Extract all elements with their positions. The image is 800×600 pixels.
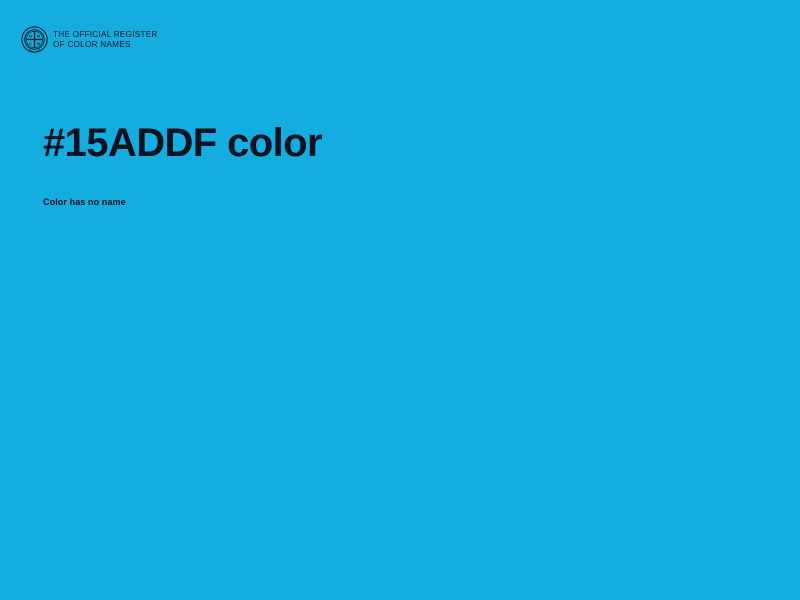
color-page: O R C N THE OFFICIAL REGISTER OF COLOR N… — [0, 0, 800, 600]
svg-text:O: O — [29, 34, 32, 39]
color-swatch — [0, 230, 800, 600]
brand-line-1: THE OFFICIAL REGISTER — [53, 30, 158, 40]
register-seal-icon: O R C N — [21, 26, 48, 53]
brand-line-2: OF COLOR NAMES — [53, 40, 158, 50]
svg-text:N: N — [37, 41, 40, 46]
brand-lockup[interactable]: O R C N THE OFFICIAL REGISTER OF COLOR N… — [21, 26, 158, 53]
color-name-status: Color has no name — [43, 167, 757, 209]
page-title: #15ADDF color — [43, 120, 757, 167]
svg-text:R: R — [37, 34, 40, 39]
color-info: #15ADDF color Color has no name — [43, 120, 757, 209]
svg-text:C: C — [29, 41, 32, 46]
brand-wordmark: THE OFFICIAL REGISTER OF COLOR NAMES — [53, 29, 158, 49]
